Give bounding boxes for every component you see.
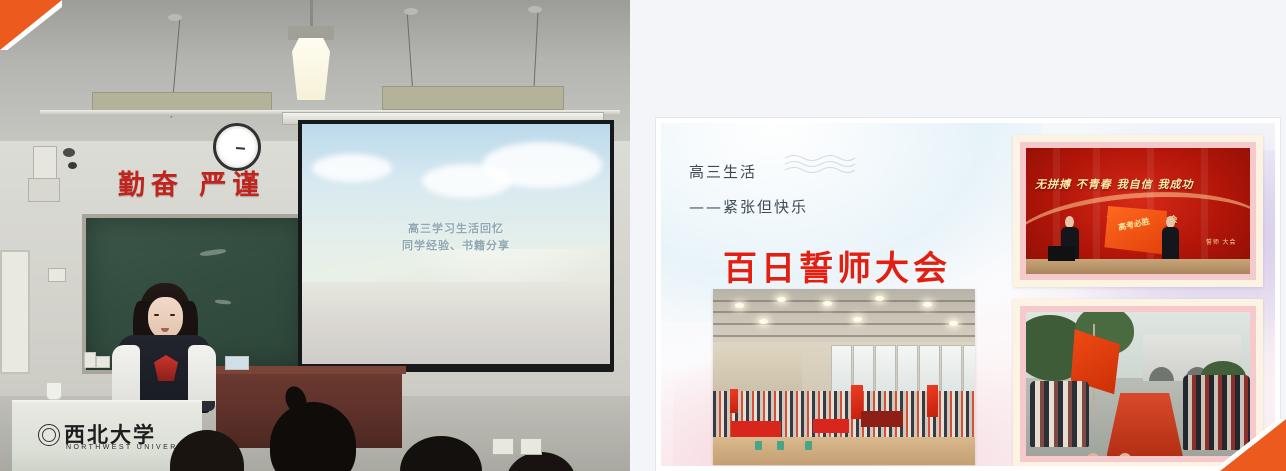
classroom-photo: 勤奋 严谨 高三学习生活回忆 同学经验、书籍分享 [0,0,630,471]
gym-light-icon [875,296,884,301]
ceiling-mount [528,6,542,13]
wall-socket [520,438,542,455]
projector-slide-line1: 高三学习生活回忆 [302,220,610,237]
projector-screen: 高三学习生活回忆 同学经验、书籍分享 [302,124,610,364]
presenter-face [148,297,183,339]
campus-photo [1026,312,1250,456]
gym-ceiling [713,289,975,349]
wall-slogan: 勤奋 严谨 [118,163,265,202]
gym-window [897,345,918,393]
sensor-icon [68,162,77,169]
gym-light-icon [853,317,862,322]
side-whiteboard [0,250,30,374]
lamp-rod [310,0,313,28]
wave-decoration-icon [783,153,857,175]
ceiling-lamp-icon [292,38,330,100]
gym-truss [713,323,975,325]
ceiling-mount [404,8,418,15]
university-seal-icon [38,424,60,446]
banner-photo: 无拼搏 不青春 我自信 我成功 高三百日誓师大会 高考必胜 [1026,148,1250,274]
gym-bucket [755,441,762,450]
gym-stage-table [861,411,903,427]
cup [46,382,62,400]
camera-icon [63,148,75,157]
lamp-housing [288,26,334,40]
ceiling-mount [168,14,182,21]
clock-face [219,129,255,165]
presenter-eye [170,314,175,316]
desk-item [225,356,249,370]
slide-title: 百日誓师大会 [723,241,951,290]
gym-window [941,345,962,393]
gym-bucket [805,441,812,450]
gym-bucket [777,441,784,450]
gym-flag-icon [730,389,738,413]
gym-banner [731,421,781,437]
screen-cloud [312,154,392,182]
banner-signature: 誓师 大会 [1206,237,1237,246]
gym-truss [713,335,975,337]
wall-socket [48,268,66,282]
screen-landscape [302,282,610,364]
screen-cloud [422,164,512,198]
stage-speaker-icon [1048,246,1075,261]
gym-window [875,345,896,393]
slide-area: 高三生活 ——紧张但快乐 百日誓师大会 [630,0,1286,471]
banner-headline: 无拼搏 不青春 我自信 我成功 [1035,176,1241,192]
corner-decoration-bottom-right [1220,419,1286,471]
gym-window [963,345,975,393]
wall-valance [382,86,564,110]
corner-decoration-top-left [0,0,62,50]
gym-truss [713,311,975,313]
gym-assembly-photo [713,289,975,465]
projector-slide-line2: 同学经验、书籍分享 [302,237,610,254]
campus-onlookers-left [1030,381,1088,447]
gym-floor [713,437,975,465]
presenter [110,283,218,413]
screenshot-root: 勤奋 严谨 高三学习生活回忆 同学经验、书籍分享 [0,0,1286,471]
slide-subheading: ——紧张但快乐 [689,196,808,217]
presentation-slide: 高三生活 ——紧张但快乐 百日誓师大会 [656,118,1280,471]
wall-socket [492,438,514,455]
wall-box [33,146,57,180]
banner-photo-frame: 无拼搏 不青春 我自信 我成功 高三百日誓师大会 高考必胜 [1013,135,1263,287]
gym-window [831,345,852,393]
gym-flag-icon [927,385,938,417]
gym-banner [813,419,849,433]
presenter-eye [154,314,159,316]
projector-slide-text: 高三学习生活回忆 同学经验、书籍分享 [302,220,610,254]
chalk-tray-item [96,356,110,368]
gym-truss [713,300,975,302]
gym-light-icon [735,303,744,308]
gym-light-icon [823,301,832,306]
banner-photo-mat: 无拼搏 不青春 我自信 我成功 高三百日誓师大会 高考必胜 [1020,142,1256,280]
slide-heading: 高三生活 [689,161,757,182]
gym-light-icon [949,321,958,326]
gym-light-icon [777,297,786,302]
gym-light-icon [759,319,768,324]
chalk-tray-item [84,352,96,368]
gym-light-icon [923,302,932,307]
wall-box [28,178,60,202]
